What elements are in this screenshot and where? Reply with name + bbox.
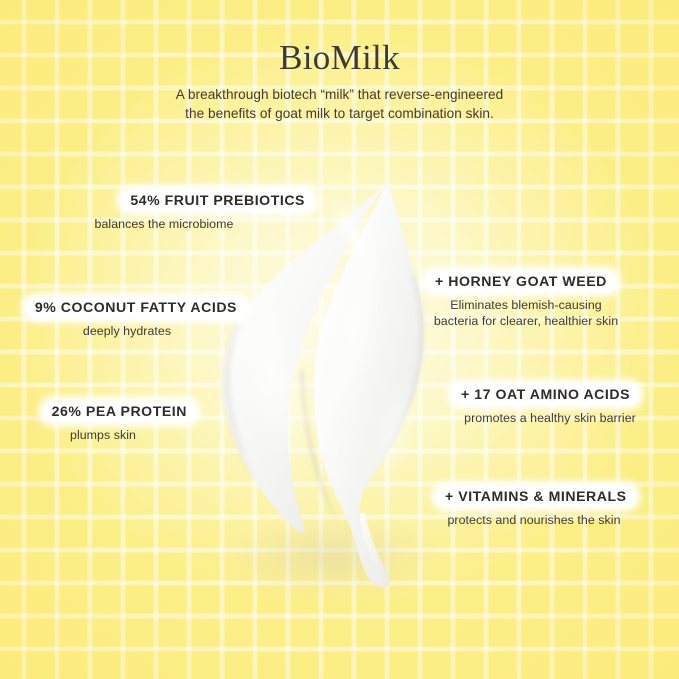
page-title: BioMilk [0, 38, 679, 77]
callout-vitamins-minerals: + VITAMINS & MINERALS protects and nouri… [436, 486, 632, 528]
callout-description: promotes a healthy skin barrier [452, 410, 648, 426]
callout-description-line-2: bacteria for clearer, healthier skin [434, 314, 618, 328]
callout-description-line-1: Eliminates blemish-causing [450, 298, 601, 312]
callout-fruit-prebiotics: 54% FRUIT PREBIOTICS balances the microb… [14, 190, 314, 232]
callout-oat-amino-acids: + 17 OAT AMINO ACIDS promotes a healthy … [452, 384, 648, 426]
callout-description: Eliminates blemish-causing bacteria for … [426, 297, 626, 330]
subtitle-line-1: A breakthrough biotech “milk” that rever… [176, 87, 504, 102]
callout-description: plumps skin [10, 427, 196, 443]
page-subtitle: A breakthrough biotech “milk” that rever… [140, 85, 540, 124]
poster-canvas: BioMilk A breakthrough biotech “milk” th… [0, 0, 679, 679]
callout-description: protects and nourishes the skin [436, 512, 632, 528]
callout-description: balances the microbiome [14, 216, 314, 232]
callout-horney-goat-weed: + HORNEY GOAT WEED Eliminates blemish-ca… [426, 271, 626, 330]
callout-coconut-fatty-acids: 9% COCONUT FATTY ACIDS deeply hydrates [8, 297, 246, 339]
callout-heading: + HORNEY GOAT WEED [426, 271, 616, 292]
callout-heading: 9% COCONUT FATTY ACIDS [26, 297, 246, 318]
subtitle-line-2: the benefits of goat milk to target comb… [185, 106, 494, 121]
callout-description: deeply hydrates [8, 323, 246, 339]
callout-heading: 26% PEA PROTEIN [43, 401, 196, 422]
callout-heading: 54% FRUIT PREBIOTICS [121, 190, 314, 211]
callout-heading: + 17 OAT AMINO ACIDS [452, 384, 639, 405]
header-block: BioMilk A breakthrough biotech “milk” th… [0, 38, 679, 124]
callout-pea-protein: 26% PEA PROTEIN plumps skin [10, 401, 196, 443]
callout-heading: + VITAMINS & MINERALS [436, 486, 636, 507]
